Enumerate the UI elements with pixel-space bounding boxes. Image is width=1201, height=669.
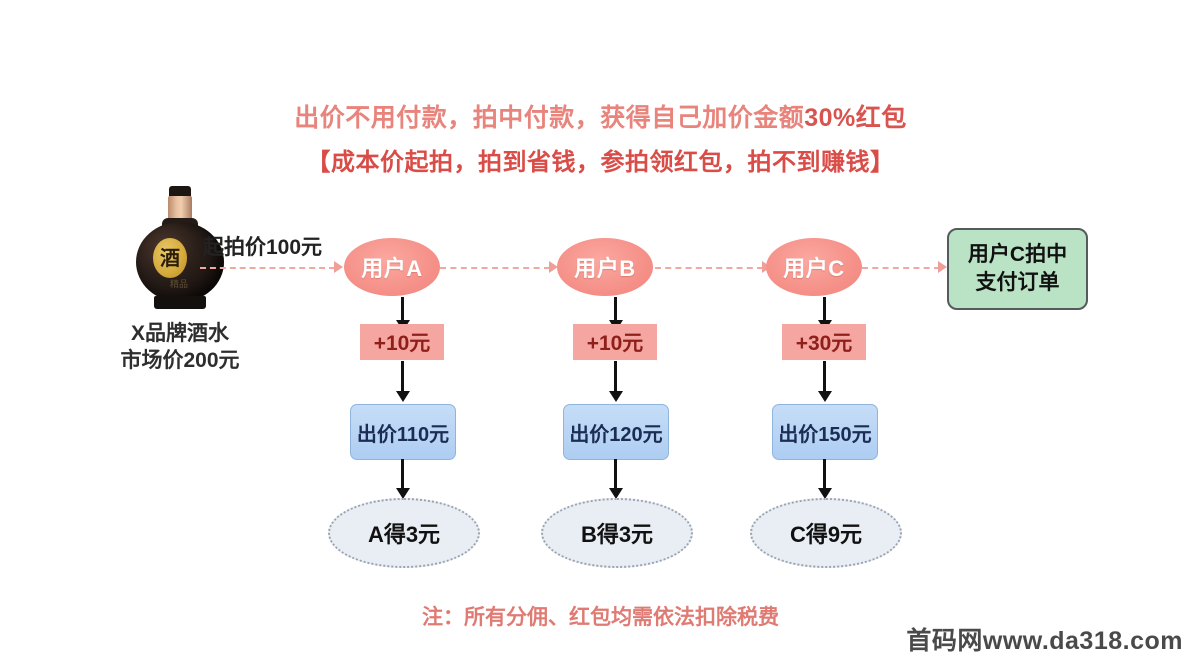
outcome-box[interactable]: 用户C拍中 支付订单 (947, 228, 1088, 310)
title-line-2: 【成本价起拍，拍到省钱，参拍领红包，拍不到赚钱】 (0, 142, 1201, 177)
product-name: X品牌酒水 (74, 320, 286, 347)
increment-box-b: +10元 (573, 324, 657, 360)
arrow-bid-c-to-result-c (823, 459, 826, 489)
arrow-user-c-to-increment-c (823, 297, 826, 321)
arrow-bid-b-to-result-b (614, 459, 617, 489)
user-node-c[interactable]: 用户C (766, 238, 862, 296)
arrow-increment-b-to-bid-b (614, 361, 617, 392)
connector-bottle-to-user-a (200, 267, 335, 271)
product-caption: X品牌酒水 市场价200元 (74, 320, 286, 374)
connector-arrowhead-outcome (938, 261, 947, 273)
result-node-c: C得9元 (750, 498, 902, 568)
title-line-1-accent: 30%红包 (804, 104, 907, 132)
result-node-a: A得3元 (328, 498, 480, 568)
product-market-price: 市场价200元 (74, 347, 286, 374)
outcome-line-1: 用户C拍中 (968, 241, 1067, 269)
connector-user-c-to-outcome (862, 267, 940, 271)
auction-flow-diagram: 出价不用付款，拍中付款，获得自己加价金额30%红包 【成本价起拍，拍到省钱，参拍… (0, 0, 1201, 669)
user-node-a[interactable]: 用户A (344, 238, 440, 296)
increment-box-a: +10元 (360, 324, 444, 360)
arrow-increment-c-to-bid-c (823, 361, 826, 392)
start-price-label: 起拍价100元 (203, 231, 322, 261)
title-line-1: 出价不用付款，拍中付款，获得自己加价金额30%红包 (0, 98, 1201, 134)
watermark: 首码网www.da318.com (906, 621, 1183, 657)
result-node-b: B得3元 (541, 498, 693, 568)
bid-box-b: 出价120元 (563, 404, 669, 460)
title-line-1-prefix: 出价不用付款，拍中付款，获得自己加价金额 (294, 104, 804, 132)
bid-box-a: 出价110元 (350, 404, 456, 460)
arrow-increment-a-to-bid-a (401, 361, 404, 392)
outcome-line-2: 支付订单 (976, 269, 1060, 297)
connector-user-b-to-user-c (655, 267, 763, 271)
connector-arrowhead-a (334, 261, 343, 273)
arrow-bid-a-to-result-a (401, 459, 404, 489)
connector-user-a-to-user-b (440, 267, 550, 271)
bid-box-c: 出价150元 (772, 404, 878, 460)
increment-box-c: +30元 (782, 324, 866, 360)
arrow-user-b-to-increment-b (614, 297, 617, 321)
arrow-user-a-to-increment-a (401, 297, 404, 321)
user-node-b[interactable]: 用户B (557, 238, 653, 296)
bottle-base-icon (154, 296, 206, 309)
bottle-label-glyph: 酒 (153, 238, 187, 278)
